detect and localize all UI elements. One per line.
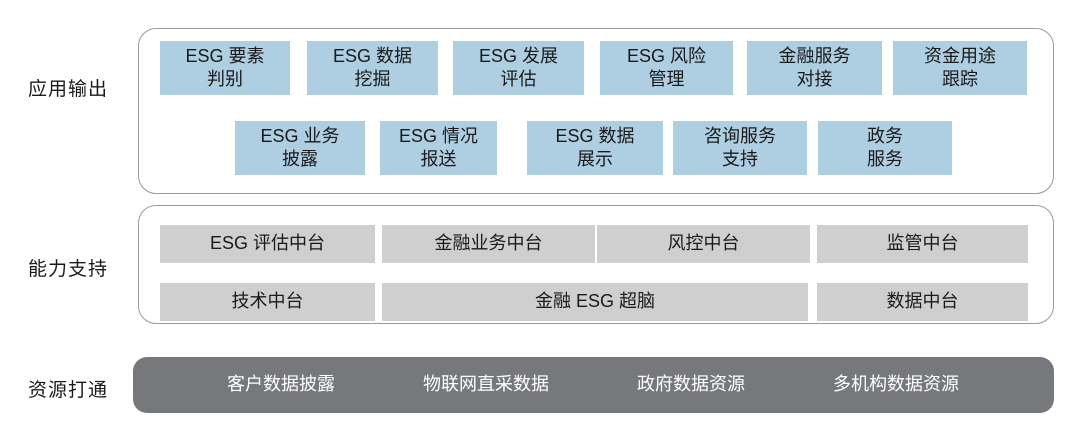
application-output-tile[interactable]: ESG 情况 报送 bbox=[380, 121, 497, 175]
capability-support-tile[interactable]: 监管中台 bbox=[817, 225, 1028, 263]
row-label-application-output: 应用输出 bbox=[28, 74, 108, 101]
capability-support-tile[interactable]: 金融 ESG 超脑 bbox=[382, 283, 808, 321]
capability-support-tile[interactable]: 金融业务中台 bbox=[382, 225, 595, 263]
application-output-tile[interactable]: ESG 发展 评估 bbox=[453, 41, 584, 95]
resource-integration-item[interactable]: 物联网直采数据 bbox=[398, 368, 574, 402]
application-output-tile[interactable]: ESG 数据 展示 bbox=[527, 121, 663, 175]
application-output-tile[interactable]: 金融服务 对接 bbox=[747, 41, 882, 95]
application-output-tile[interactable]: ESG 业务 披露 bbox=[235, 121, 365, 175]
resource-integration-item[interactable]: 政府数据资源 bbox=[611, 368, 771, 402]
resource-integration-item[interactable]: 客户数据披露 bbox=[201, 368, 361, 402]
application-output-tile[interactable]: 资金用途 跟踪 bbox=[893, 41, 1027, 95]
application-output-tile[interactable]: 政务 服务 bbox=[818, 121, 952, 175]
application-output-tile[interactable]: ESG 数据 挖掘 bbox=[307, 41, 438, 95]
row-label-capability-support: 能力支持 bbox=[28, 254, 108, 281]
capability-support-tile[interactable]: 风控中台 bbox=[597, 225, 810, 263]
capability-support-tile[interactable]: 技术中台 bbox=[160, 283, 375, 321]
application-output-tile[interactable]: 咨询服务 支持 bbox=[673, 121, 807, 175]
application-output-tile[interactable]: ESG 要素 判别 bbox=[160, 41, 290, 95]
application-output-tile[interactable]: ESG 风险 管理 bbox=[600, 41, 733, 95]
resource-integration-item[interactable]: 多机构数据资源 bbox=[808, 368, 984, 402]
row-label-resource-integration: 资源打通 bbox=[28, 375, 108, 402]
capability-support-tile[interactable]: ESG 评估中台 bbox=[160, 225, 375, 263]
architecture-diagram: 应用输出 能力支持 资源打通 ESG 要素 判别ESG 数据 挖掘ESG 发展 … bbox=[0, 0, 1080, 447]
capability-support-tile[interactable]: 数据中台 bbox=[817, 283, 1028, 321]
